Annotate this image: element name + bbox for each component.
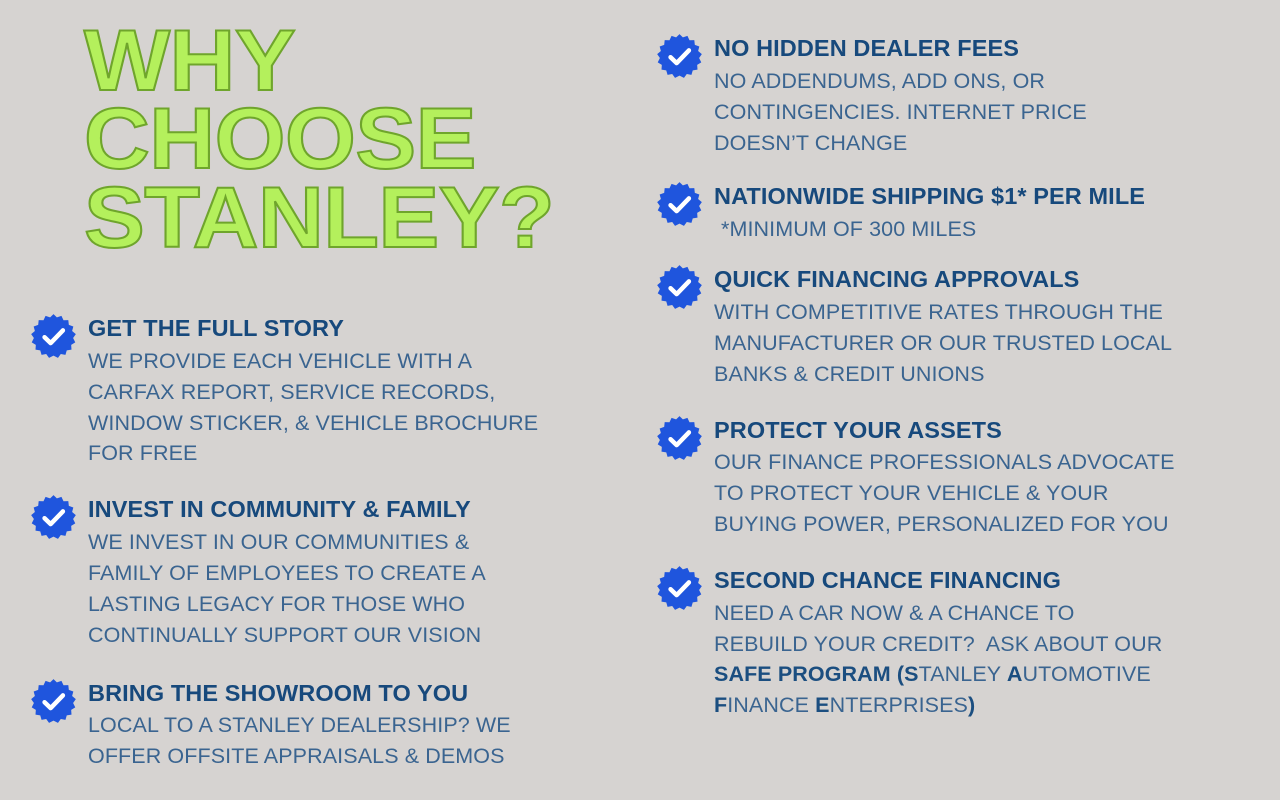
feature-title: SECOND CHANCE FINANCING <box>714 566 1256 596</box>
feature-description: OUR FINANCE PROFESSIONALS ADVOCATE TO PR… <box>714 447 1256 540</box>
feature-text: NO HIDDEN DEALER FEES NO ADDENDUMS, ADD … <box>714 32 1256 158</box>
feature-text: GET THE FULL STORY WE PROVIDE EACH VEHIC… <box>88 312 630 469</box>
verified-check-badge-icon <box>656 264 703 311</box>
feature-description: WE INVEST IN OUR COMMUNITIES & FAMILY OF… <box>88 527 630 651</box>
feature-item: PROTECT YOUR ASSETS OUR FINANCE PROFESSI… <box>656 414 1256 540</box>
feature-title: NO HIDDEN DEALER FEES <box>714 34 1256 64</box>
feature-text: BRING THE SHOWROOM TO YOU LOCAL TO A STA… <box>88 677 630 773</box>
feature-text: PROTECT YOUR ASSETS OUR FINANCE PROFESSI… <box>714 414 1256 540</box>
feature-title: QUICK FINANCING APPROVALS <box>714 265 1256 295</box>
feature-description: WE PROVIDE EACH VEHICLE WITH A CARFAX RE… <box>88 346 630 470</box>
feature-item: BRING THE SHOWROOM TO YOU LOCAL TO A STA… <box>30 677 630 773</box>
left-feature-column: GET THE FULL STORY WE PROVIDE EACH VEHIC… <box>30 312 630 772</box>
feature-description: WITH COMPETITIVE RATES THROUGH THE MANUF… <box>714 297 1256 390</box>
feature-description: *MINIMUM OF 300 MILES <box>714 214 1256 245</box>
verified-check-badge-icon <box>30 494 77 541</box>
feature-item: NO HIDDEN DEALER FEES NO ADDENDUMS, ADD … <box>656 32 1256 158</box>
verified-check-badge-icon <box>656 565 703 612</box>
feature-description: NO ADDENDUMS, ADD ONS, OR CONTINGENCIES.… <box>714 66 1256 159</box>
verified-check-badge-icon <box>30 678 77 725</box>
feature-text: SECOND CHANCE FINANCING NEED A CAR NOW &… <box>714 564 1256 721</box>
feature-description: LOCAL TO A STANLEY DEALERSHIP? WE OFFER … <box>88 710 630 772</box>
feature-item: INVEST IN COMMUNITY & FAMILY WE INVEST I… <box>30 493 630 650</box>
feature-text: QUICK FINANCING APPROVALS WITH COMPETITI… <box>714 263 1256 389</box>
verified-check-badge-icon <box>656 415 703 462</box>
verified-check-badge-icon <box>30 313 77 360</box>
feature-item: GET THE FULL STORY WE PROVIDE EACH VEHIC… <box>30 312 630 469</box>
feature-item: QUICK FINANCING APPROVALS WITH COMPETITI… <box>656 263 1256 389</box>
feature-item: SECOND CHANCE FINANCING NEED A CAR NOW &… <box>656 564 1256 721</box>
feature-item: NATIONWIDE SHIPPING $1* PER MILE *MINIMU… <box>656 180 1256 245</box>
verified-check-badge-icon <box>656 33 703 80</box>
feature-text: NATIONWIDE SHIPPING $1* PER MILE *MINIMU… <box>714 180 1256 245</box>
poster-canvas: WHY CHOOSE STANLEY? GET THE FULL STORY W… <box>0 0 1280 800</box>
feature-title: PROTECT YOUR ASSETS <box>714 416 1256 446</box>
right-feature-column: NO HIDDEN DEALER FEES NO ADDENDUMS, ADD … <box>656 32 1256 721</box>
feature-title: GET THE FULL STORY <box>88 314 630 344</box>
feature-title: NATIONWIDE SHIPPING $1* PER MILE <box>714 182 1256 212</box>
page-title: WHY CHOOSE STANLEY? <box>84 22 635 257</box>
verified-check-badge-icon <box>656 181 703 228</box>
feature-title: BRING THE SHOWROOM TO YOU <box>88 679 630 709</box>
feature-title: INVEST IN COMMUNITY & FAMILY <box>88 495 630 525</box>
feature-description: NEED A CAR NOW & A CHANCE TOREBUILD YOUR… <box>714 598 1256 722</box>
feature-text: INVEST IN COMMUNITY & FAMILY WE INVEST I… <box>88 493 630 650</box>
